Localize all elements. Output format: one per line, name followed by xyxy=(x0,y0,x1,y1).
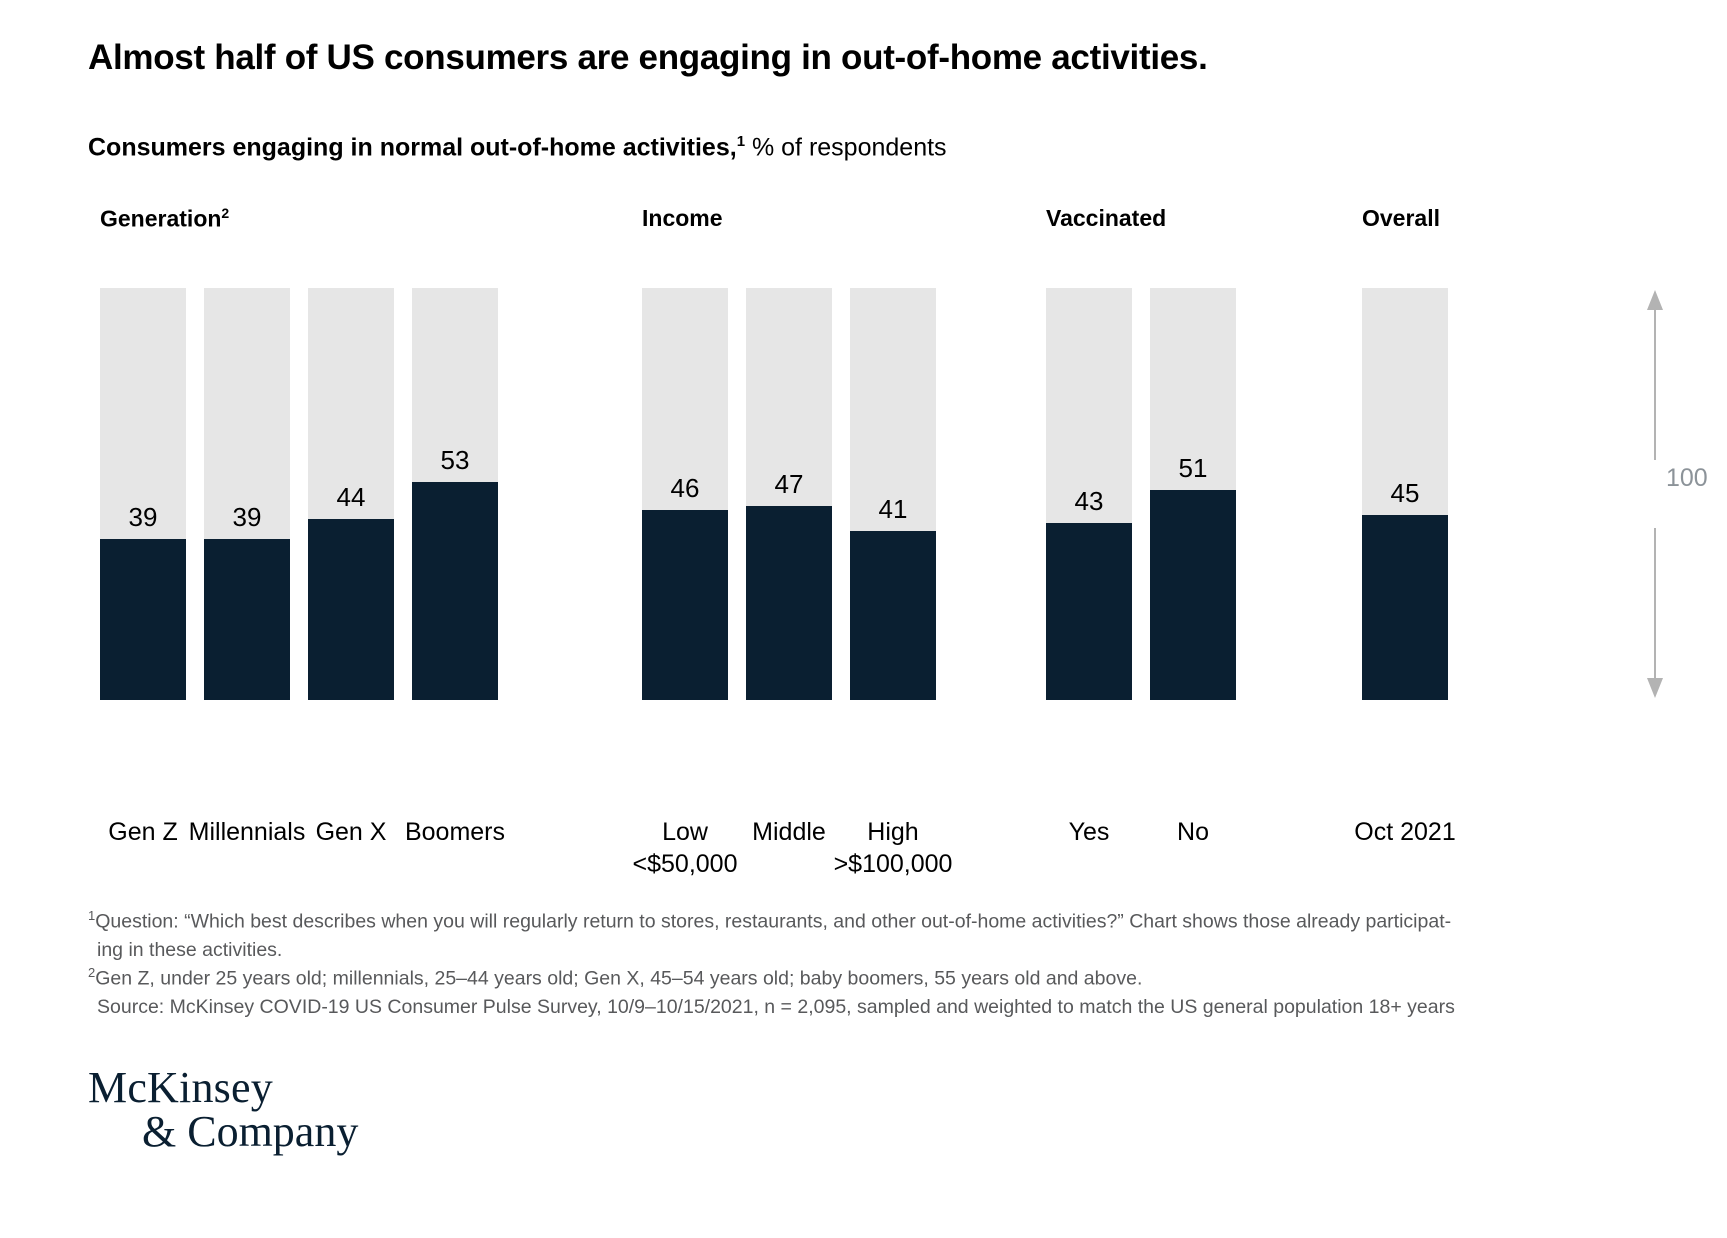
group-title-generation: Generation2 xyxy=(100,205,229,239)
logo-line-2: & Company xyxy=(88,1110,358,1154)
group-title-income: Income xyxy=(642,205,723,239)
bar-chart: Generation239Gen Z39Millennials44Gen X53… xyxy=(0,0,1727,900)
x-axis-label-main: Yes xyxy=(1069,818,1110,846)
x-axis-label: Boomers xyxy=(390,816,520,848)
bar-value-label: 39 xyxy=(100,504,186,530)
scale-max-label: 100 xyxy=(1666,464,1708,493)
bar-group-overall: Overall45Oct 2021 xyxy=(1362,205,1440,239)
bar-value-label: 45 xyxy=(1362,480,1448,506)
bar-value-label: 44 xyxy=(308,484,394,510)
bar-fill xyxy=(1046,523,1132,700)
bar-gen-x[interactable]: 44Gen X xyxy=(308,288,394,700)
bar-fill xyxy=(100,539,186,700)
footnote-1: 1Question: “Which best describes when yo… xyxy=(88,907,1688,936)
bars-container: 43Yes51No xyxy=(1046,288,1236,700)
bar-gen-z[interactable]: 39Gen Z xyxy=(100,288,186,700)
bar-value-label: 41 xyxy=(850,496,936,522)
bar-fill xyxy=(1362,515,1448,700)
bars-container: 39Gen Z39Millennials44Gen X53Boomers xyxy=(100,288,498,700)
x-axis-label-main: Gen Z xyxy=(108,818,177,846)
bar-boomers[interactable]: 53Boomers xyxy=(412,288,498,700)
bar-millennials[interactable]: 39Millennials xyxy=(204,288,290,700)
x-axis-label-sub: >$100,000 xyxy=(828,848,958,880)
bar-group-vaccinated: Vaccinated43Yes51No xyxy=(1046,205,1166,239)
bar-group-income: Income46Low<$50,00047Middle41High>$100,0… xyxy=(642,205,723,239)
footnotes: 1Question: “Which best describes when yo… xyxy=(88,907,1688,1022)
bar-yes[interactable]: 43Yes xyxy=(1046,288,1132,700)
x-axis-label: No xyxy=(1128,816,1258,848)
bars-container: 46Low<$50,00047Middle41High>$100,000 xyxy=(642,288,936,700)
bar-fill xyxy=(308,519,394,700)
bar-value-label: 39 xyxy=(204,504,290,530)
group-title-footnote-marker: 2 xyxy=(221,205,229,221)
footnote-1-continued: ing in these activities. xyxy=(88,936,1688,964)
footnote-2: 2Gen Z, under 25 years old; millennials,… xyxy=(88,964,1688,993)
bar-oct-2021[interactable]: 45Oct 2021 xyxy=(1362,288,1448,700)
bar-group-generation: Generation239Gen Z39Millennials44Gen X53… xyxy=(100,205,229,239)
mckinsey-logo: McKinsey & Company xyxy=(88,1066,358,1154)
bar-fill xyxy=(746,506,832,700)
bar-fill xyxy=(850,531,936,700)
bar-value-label: 43 xyxy=(1046,488,1132,514)
bar-fill xyxy=(204,539,290,700)
footnote-1-text: Question: “Which best describes when you… xyxy=(95,911,1451,933)
x-axis-label-main: Gen X xyxy=(316,818,387,846)
x-axis-label: High>$100,000 xyxy=(828,816,958,880)
x-axis-label-sub: <$50,000 xyxy=(620,848,750,880)
x-axis-label-main: No xyxy=(1177,818,1209,846)
bar-value-label: 47 xyxy=(746,471,832,497)
x-axis-label-main: Low xyxy=(662,818,708,846)
scale-indicator: 100 xyxy=(1630,288,1720,700)
bar-no[interactable]: 51No xyxy=(1150,288,1236,700)
group-title-overall: Overall xyxy=(1362,205,1440,239)
bars-container: 45Oct 2021 xyxy=(1362,288,1448,700)
bar-middle[interactable]: 47Middle xyxy=(746,288,832,700)
bar-high[interactable]: 41High>$100,000 xyxy=(850,288,936,700)
bar-fill xyxy=(1150,490,1236,700)
bar-value-label: 51 xyxy=(1150,455,1236,481)
x-axis-label-main: High xyxy=(867,818,918,846)
x-axis-label-main: Boomers xyxy=(405,818,505,846)
bar-fill xyxy=(642,510,728,700)
scale-arrow-icon xyxy=(1630,288,1720,700)
x-axis-label-main: Oct 2021 xyxy=(1354,818,1455,846)
bar-fill xyxy=(412,482,498,700)
x-axis-label: Oct 2021 xyxy=(1340,816,1470,848)
footnote-2-text: Gen Z, under 25 years old; millennials, … xyxy=(95,968,1142,990)
footnote-source: Source: McKinsey COVID-19 US Consumer Pu… xyxy=(88,993,1688,1021)
group-title-vaccinated: Vaccinated xyxy=(1046,205,1166,239)
x-axis-label-main: Middle xyxy=(752,818,826,846)
bar-low[interactable]: 46Low<$50,000 xyxy=(642,288,728,700)
logo-line-1: McKinsey xyxy=(88,1066,358,1110)
bar-value-label: 46 xyxy=(642,475,728,501)
bar-value-label: 53 xyxy=(412,447,498,473)
